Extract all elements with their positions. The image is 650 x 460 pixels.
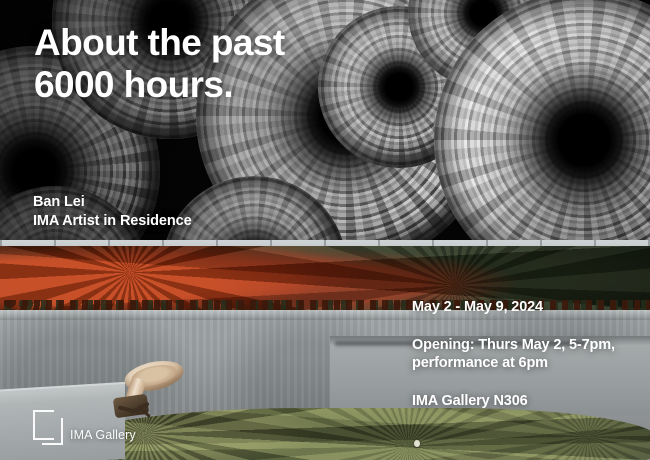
bracket-inner-icon xyxy=(42,418,63,445)
ima-gallery-wordmark: IMA Gallery xyxy=(70,428,136,444)
ima-gallery-logo: IMA Gallery xyxy=(33,410,136,444)
event-details: May 2 - May 9, 2024 Opening: Thurs May 2… xyxy=(412,298,644,410)
pebble xyxy=(414,440,420,447)
exhibition-poster: About the past 6000 hours. Ban Lei IMA A… xyxy=(0,0,650,460)
artist-credit: Ban Lei IMA Artist in Residence xyxy=(33,193,192,232)
poster-headline: About the past 6000 hours. xyxy=(34,22,285,106)
exhibition-dates: May 2 - May 9, 2024 xyxy=(412,298,644,317)
ima-bracket-mark-icon xyxy=(33,410,63,444)
artist-name: Ban Lei xyxy=(33,194,85,210)
top-photo-panel: About the past 6000 hours. Ban Lei IMA A… xyxy=(0,0,650,240)
opening-details: Opening: Thurs May 2, 5-7pm, performance… xyxy=(412,336,644,373)
artist-role: IMA Artist in Residence xyxy=(33,212,192,231)
gallery-location: IMA Gallery N306 xyxy=(412,392,644,411)
